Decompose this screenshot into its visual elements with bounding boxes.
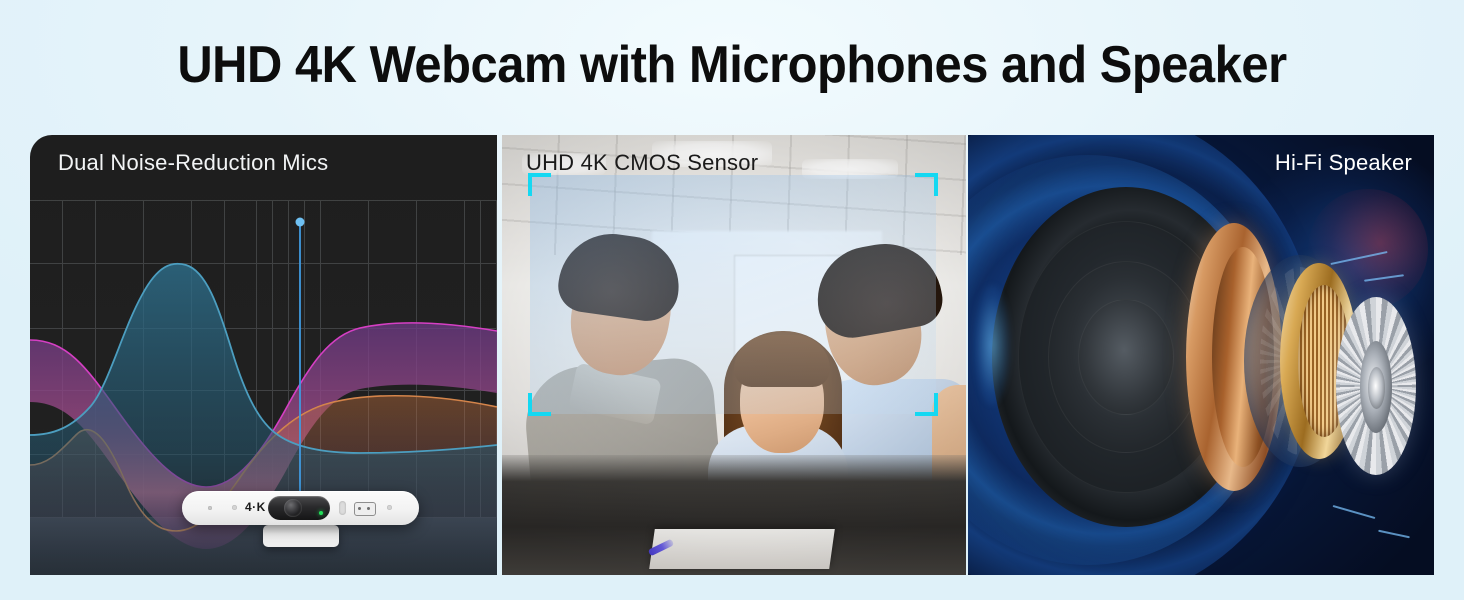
light-sensor-icon — [339, 501, 346, 515]
cone-ring-inner — [1078, 299, 1174, 415]
frequency-marker-dot — [296, 218, 305, 227]
focus-corner-top-right-icon — [915, 173, 938, 196]
panel-dual-mics: 4·K Dual Noise-Reduction Mics — [30, 135, 497, 575]
cone-highlight — [974, 285, 1010, 405]
panel-label-hifi-speaker: Hi-Fi Speaker — [1275, 149, 1412, 177]
panel-hifi-speaker: Hi-Fi Speaker — [968, 135, 1434, 575]
camera-lens-housing — [268, 496, 330, 520]
panel-label-cmos-sensor: UHD 4K CMOS Sensor — [526, 149, 758, 177]
webcam-device: 4·K — [182, 491, 419, 525]
page-title: UHD 4K Webcam with Microphones and Speak… — [44, 34, 1420, 96]
equalizer-graphic: 4·K — [30, 135, 497, 575]
panel-cmos-sensor: UHD 4K CMOS Sensor — [502, 135, 966, 575]
light-streak — [1378, 530, 1410, 539]
mic-dot-right-icon — [387, 505, 392, 510]
sensor-dot-icon — [232, 505, 237, 510]
speaker-exploded-view — [968, 135, 1434, 575]
light-streak — [1333, 505, 1376, 519]
office-meeting-photo — [502, 135, 966, 575]
webcam-stand — [263, 525, 339, 547]
product-banner: UHD 4K Webcam with Microphones and Speak… — [0, 0, 1464, 600]
privacy-shutter-icon — [354, 502, 376, 516]
panel-label-dual-mics: Dual Noise-Reduction Mics — [58, 149, 328, 177]
mic-dot-left-icon — [208, 506, 212, 510]
status-led-indicator — [319, 511, 323, 515]
focus-corner-bottom-right-icon — [915, 393, 938, 416]
magnet-hub — [1368, 367, 1385, 409]
camera-lens-icon — [284, 499, 302, 517]
focus-corner-bottom-left-icon — [528, 393, 551, 416]
autofocus-frame — [530, 175, 936, 414]
webcam-4k-badge: 4·K — [245, 500, 266, 514]
